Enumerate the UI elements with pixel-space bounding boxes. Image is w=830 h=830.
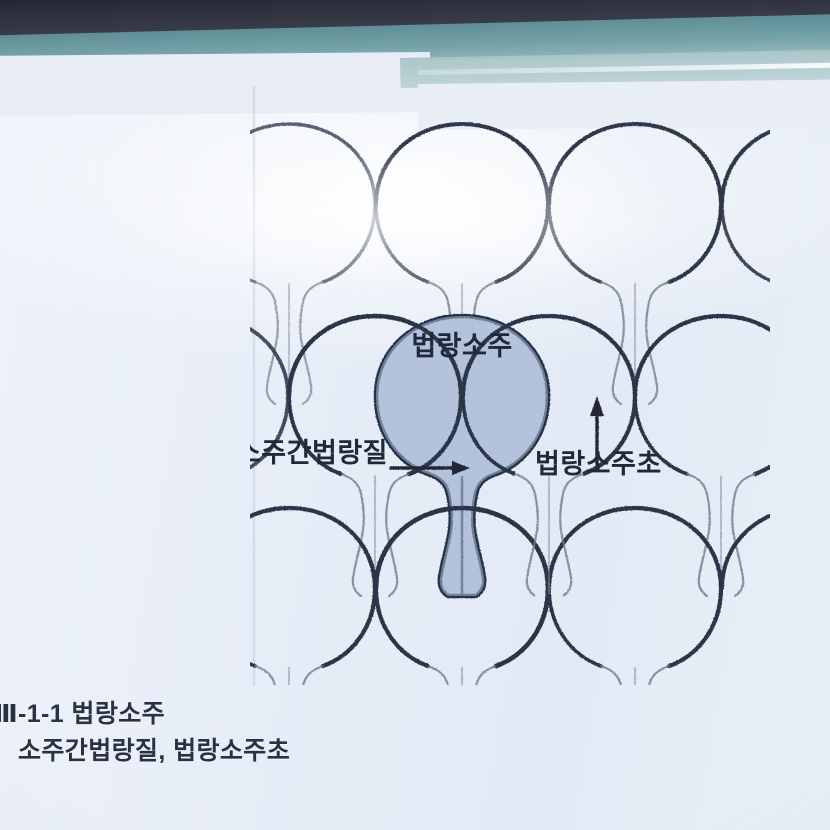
- label-rod: 법랑소주: [411, 331, 512, 361]
- figure-caption: Ⅲ-1-1 법랑소주 소주간법랑질, 법랑소주초: [0, 696, 640, 770]
- caption-line-1: Ⅲ-1-1 법랑소주: [0, 696, 640, 733]
- rod-cell: [203, 124, 375, 404]
- label-rod-sheath: 법랑소주초: [535, 449, 662, 479]
- rod-cell: [722, 508, 830, 788]
- rod-cell: [549, 124, 721, 404]
- rod-cell: [30, 124, 202, 404]
- slide-photo: 법랑소주 소주간법랑질 법랑소주초 Ⅲ-1-1 법랑소주 소주간법랑질, 법랑소…: [0, 0, 830, 830]
- rod-cell: [635, 700, 807, 830]
- label-interrod: 소주간법랑질: [236, 438, 388, 468]
- caption-line-2: 소주간법랑질, 법랑소주초: [18, 733, 640, 770]
- rod-cell: [722, 124, 830, 404]
